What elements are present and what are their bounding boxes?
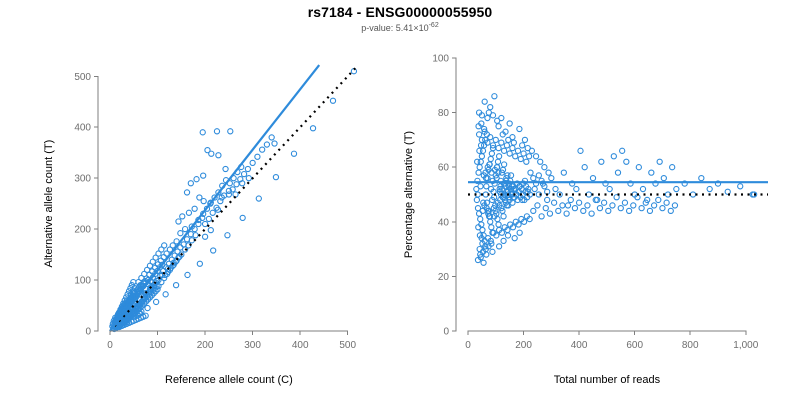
data-point: [201, 173, 206, 178]
data-point: [536, 173, 541, 178]
figure-canvas: rs7184 - ENSG00000055950 p-value: 5.41×1…: [0, 0, 800, 400]
data-point: [507, 151, 512, 156]
x-tick-label: 500: [339, 340, 356, 351]
data-point: [202, 234, 207, 239]
data-point: [183, 227, 188, 232]
y-tick-label: 400: [74, 123, 91, 134]
data-point: [674, 186, 679, 191]
data-point: [738, 184, 743, 189]
data-point: [572, 206, 577, 211]
left-x-tick-labels: 0100200300400500: [107, 340, 356, 351]
data-point: [173, 283, 178, 288]
data-point: [208, 228, 213, 233]
data-point: [640, 186, 645, 191]
data-point: [206, 216, 211, 221]
data-point: [561, 170, 566, 175]
x-tick-label: 400: [571, 340, 588, 351]
data-point: [504, 143, 509, 148]
left-x-axis-spine: [110, 331, 348, 335]
data-point: [490, 113, 495, 118]
data-point: [564, 211, 569, 216]
data-point: [260, 147, 265, 152]
data-point: [556, 208, 561, 213]
left-y-tick-labels: 0100200300400500: [74, 72, 91, 338]
data-point: [489, 151, 494, 156]
data-point: [560, 203, 565, 208]
data-point: [656, 197, 661, 202]
y-tick-label: 300: [74, 174, 91, 185]
data-point: [162, 243, 167, 248]
data-point: [538, 159, 543, 164]
right-y-axis-title: Percentage alternative (T): [403, 131, 415, 258]
data-point: [176, 219, 181, 224]
data-point: [502, 148, 507, 153]
data-point: [499, 140, 504, 145]
data-point: [502, 162, 507, 167]
y-tick-label: 20: [438, 272, 450, 283]
data-point: [649, 170, 654, 175]
data-point: [539, 214, 544, 219]
data-point: [233, 192, 238, 197]
right-x-axis-spine: [468, 331, 746, 335]
x-tick-label: 600: [626, 340, 643, 351]
data-point: [223, 166, 228, 171]
data-point: [216, 153, 221, 158]
data-point: [521, 151, 526, 156]
data-point: [145, 305, 150, 310]
x-tick-label: 800: [682, 340, 699, 351]
data-point: [508, 173, 513, 178]
y-tick-label: 500: [74, 72, 91, 83]
data-point: [624, 159, 629, 164]
data-point: [180, 214, 185, 219]
x-tick-label: 400: [292, 340, 309, 351]
data-point: [477, 132, 482, 137]
data-point: [505, 233, 510, 238]
data-point: [225, 233, 230, 238]
data-point: [495, 159, 500, 164]
data-point: [672, 203, 677, 208]
data-point: [291, 151, 296, 156]
data-point: [214, 129, 219, 134]
data-point: [606, 208, 611, 213]
right-panel-data-points: [474, 94, 757, 266]
data-point: [622, 200, 627, 205]
data-point: [255, 154, 260, 159]
data-point: [599, 159, 604, 164]
plots-svg-root: 0100200300400500 0100200300400500 Refere…: [0, 0, 800, 400]
data-point: [520, 143, 525, 148]
data-point: [699, 176, 704, 181]
data-point: [495, 118, 500, 123]
data-point: [234, 182, 239, 187]
left-scatter-panel: 0100200300400500 0100200300400500 Refere…: [43, 65, 358, 386]
data-point: [631, 203, 636, 208]
data-point: [574, 186, 579, 191]
y-tick-label: 80: [438, 108, 450, 119]
data-point: [660, 206, 665, 211]
data-point: [210, 210, 215, 215]
data-point: [241, 171, 246, 176]
data-point: [477, 148, 482, 153]
data-point: [264, 142, 269, 147]
data-point: [610, 203, 615, 208]
data-point: [527, 154, 532, 159]
data-point: [543, 206, 548, 211]
data-point: [479, 137, 484, 142]
data-point: [545, 197, 550, 202]
data-point: [582, 165, 587, 170]
data-point: [589, 211, 594, 216]
data-point: [585, 203, 590, 208]
data-point: [522, 137, 527, 142]
data-point: [250, 160, 255, 165]
data-point: [661, 176, 666, 181]
data-point: [488, 219, 493, 224]
y-tick-label: 100: [74, 276, 91, 287]
data-point: [475, 159, 480, 164]
data-point: [647, 208, 652, 213]
data-point: [197, 261, 202, 266]
data-point: [532, 186, 537, 191]
data-point: [497, 244, 502, 249]
data-point: [546, 170, 551, 175]
x-tick-label: 0: [465, 340, 471, 351]
right-y-tick-labels: 020406080100: [432, 54, 449, 338]
data-point: [478, 184, 483, 189]
data-point: [186, 210, 191, 215]
data-point: [549, 176, 554, 181]
data-point: [272, 141, 277, 146]
data-point: [477, 211, 482, 216]
data-point: [481, 260, 486, 265]
data-point: [476, 170, 481, 175]
x-tick-label: 0: [107, 340, 113, 351]
data-point: [668, 208, 673, 213]
data-point: [194, 177, 199, 182]
data-point: [477, 165, 482, 170]
data-point: [578, 148, 583, 153]
data-point: [512, 236, 517, 241]
x-tick-label: 100: [149, 340, 166, 351]
data-point: [611, 154, 616, 159]
data-point: [535, 203, 540, 208]
data-point: [577, 200, 582, 205]
y-tick-label: 0: [443, 327, 449, 338]
y-tick-label: 200: [74, 225, 91, 236]
data-point: [211, 248, 216, 253]
data-point: [497, 154, 502, 159]
left-y-axis-title: Alternative allele count (T): [43, 140, 55, 268]
right-scatter-panel: 02004006008001,000 020406080100 Total nu…: [403, 54, 768, 387]
data-point: [310, 126, 315, 131]
data-point: [518, 156, 523, 161]
data-point: [664, 200, 669, 205]
y-tick-label: 0: [85, 327, 91, 338]
data-point: [273, 175, 278, 180]
data-point: [565, 203, 570, 208]
data-point: [185, 272, 190, 277]
data-point: [496, 222, 501, 227]
data-point: [517, 126, 522, 131]
y-tick-label: 40: [438, 217, 450, 228]
left-regression-line: [110, 65, 319, 331]
data-point: [240, 215, 245, 220]
data-point: [652, 203, 657, 208]
data-point: [245, 166, 250, 171]
data-point: [525, 145, 530, 150]
data-point: [474, 197, 479, 202]
data-point: [256, 196, 261, 201]
data-point: [485, 115, 490, 120]
data-point: [496, 124, 501, 129]
x-tick-label: 300: [244, 340, 261, 351]
data-point: [531, 176, 536, 181]
data-point: [552, 200, 557, 205]
data-point: [528, 170, 533, 175]
right-x-axis-title: Total number of reads: [554, 374, 661, 386]
data-point: [581, 208, 586, 213]
left-y-axis-spine: [94, 76, 98, 331]
data-point: [517, 230, 522, 235]
data-point: [154, 299, 159, 304]
data-point: [515, 148, 520, 153]
data-point: [602, 200, 607, 205]
data-point: [542, 165, 547, 170]
data-point: [178, 231, 183, 236]
data-point: [531, 208, 536, 213]
data-point: [246, 176, 251, 181]
data-point: [657, 159, 662, 164]
data-point: [489, 225, 494, 230]
data-point: [501, 238, 506, 243]
data-point: [163, 292, 168, 297]
data-point: [507, 121, 512, 126]
data-point: [707, 186, 712, 191]
data-point: [488, 105, 493, 110]
data-point: [513, 154, 518, 159]
data-point: [620, 148, 625, 153]
data-point: [488, 156, 493, 161]
data-point: [510, 145, 515, 150]
data-point: [586, 192, 591, 197]
data-point: [209, 151, 214, 156]
y-tick-label: 100: [432, 54, 449, 65]
x-tick-label: 200: [197, 340, 214, 351]
data-point: [228, 129, 233, 134]
data-point: [201, 198, 206, 203]
data-point: [330, 98, 335, 103]
data-point: [524, 159, 529, 164]
data-point: [482, 99, 487, 104]
data-point: [496, 145, 501, 150]
data-point: [597, 206, 602, 211]
data-point: [200, 130, 205, 135]
data-point: [269, 135, 274, 140]
data-point: [690, 192, 695, 197]
data-point: [506, 137, 511, 142]
data-point: [590, 176, 595, 181]
data-point: [615, 170, 620, 175]
data-point: [636, 165, 641, 170]
data-point: [493, 137, 498, 142]
data-point: [553, 186, 558, 191]
right-y-axis-spine: [452, 58, 456, 331]
data-point: [188, 181, 193, 186]
data-point: [184, 190, 189, 195]
data-point: [192, 206, 197, 211]
left-x-axis-title: Reference allele count (C): [165, 374, 293, 386]
data-point: [511, 140, 516, 145]
data-point: [501, 214, 506, 219]
data-point: [478, 216, 483, 221]
data-point: [547, 211, 552, 216]
data-point: [490, 249, 495, 254]
data-point: [479, 154, 484, 159]
data-point: [639, 206, 644, 211]
data-point: [670, 165, 675, 170]
data-point: [607, 186, 612, 191]
x-tick-label: 200: [515, 340, 532, 351]
right-x-tick-labels: 02004006008001,000: [465, 340, 759, 351]
y-tick-label: 60: [438, 163, 450, 174]
data-point: [618, 206, 623, 211]
data-point: [533, 154, 538, 159]
data-point: [492, 94, 497, 99]
x-tick-label: 1,000: [733, 340, 758, 351]
data-point: [568, 197, 573, 202]
data-point: [627, 208, 632, 213]
